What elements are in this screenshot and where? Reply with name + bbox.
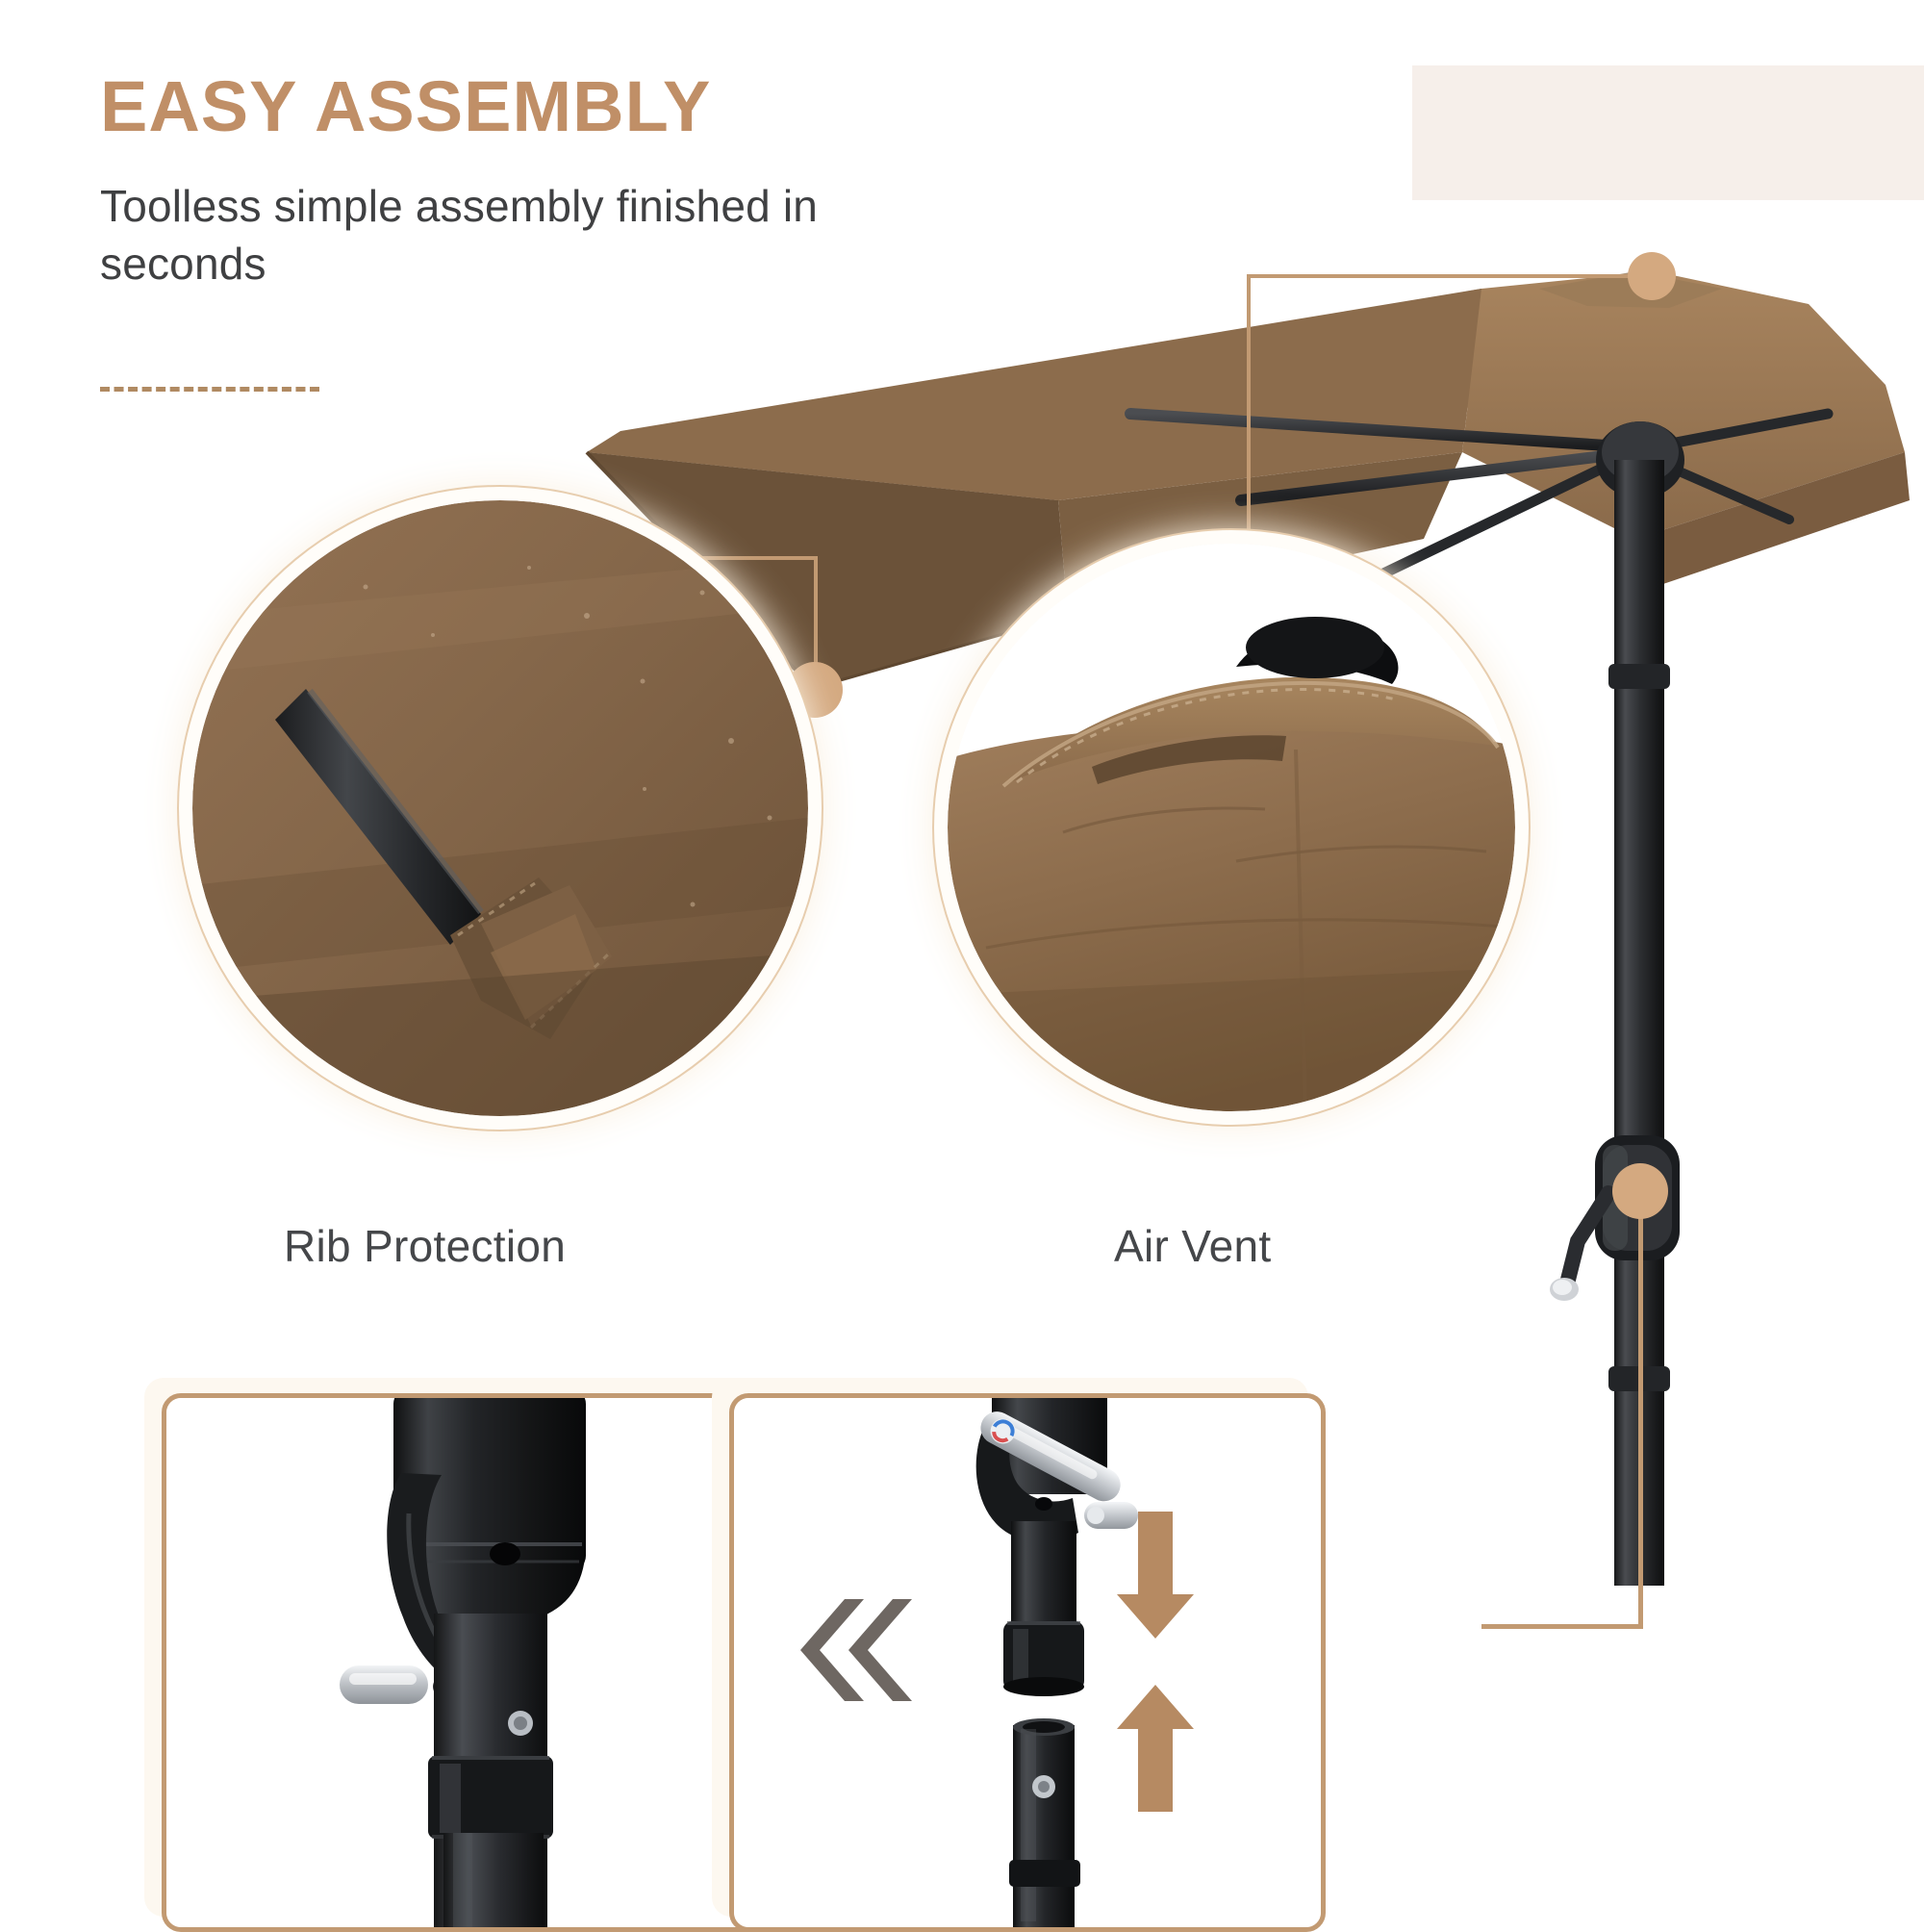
leader-dot-vent xyxy=(1628,252,1676,300)
page-subtitle: Toolless simple assembly finished in sec… xyxy=(100,177,966,293)
infographic-canvas: EASY ASSEMBLY Toolless simple assembly f… xyxy=(0,0,1924,1924)
photo-air-vent xyxy=(948,544,1515,1111)
double-chevron-left-icon xyxy=(789,1597,914,1703)
leader-line-pole-vertical xyxy=(1638,1193,1643,1629)
leader-line-vent-horizontal xyxy=(1247,274,1655,278)
callout-circle-air-vent xyxy=(948,544,1515,1111)
leader-dot-crank xyxy=(1612,1163,1668,1219)
leader-dot-rib xyxy=(787,662,843,718)
header-block: EASY ASSEMBLY Toolless simple assembly f… xyxy=(100,69,966,293)
panel-crank-assembled xyxy=(162,1393,777,1932)
photo-rib-protection xyxy=(192,500,808,1116)
title-divider xyxy=(100,387,319,392)
callout-label-air-vent: Air Vent xyxy=(1114,1220,1272,1272)
callout-circle-rib-protection xyxy=(192,500,808,1116)
decor-cream-block xyxy=(1412,65,1924,200)
photo-crank-assembled xyxy=(166,1398,772,1927)
callout-label-rib-protection: Rib Protection xyxy=(284,1220,566,1272)
leader-line-pole-horizontal xyxy=(1481,1624,1643,1629)
page-title: EASY ASSEMBLY xyxy=(100,69,966,144)
